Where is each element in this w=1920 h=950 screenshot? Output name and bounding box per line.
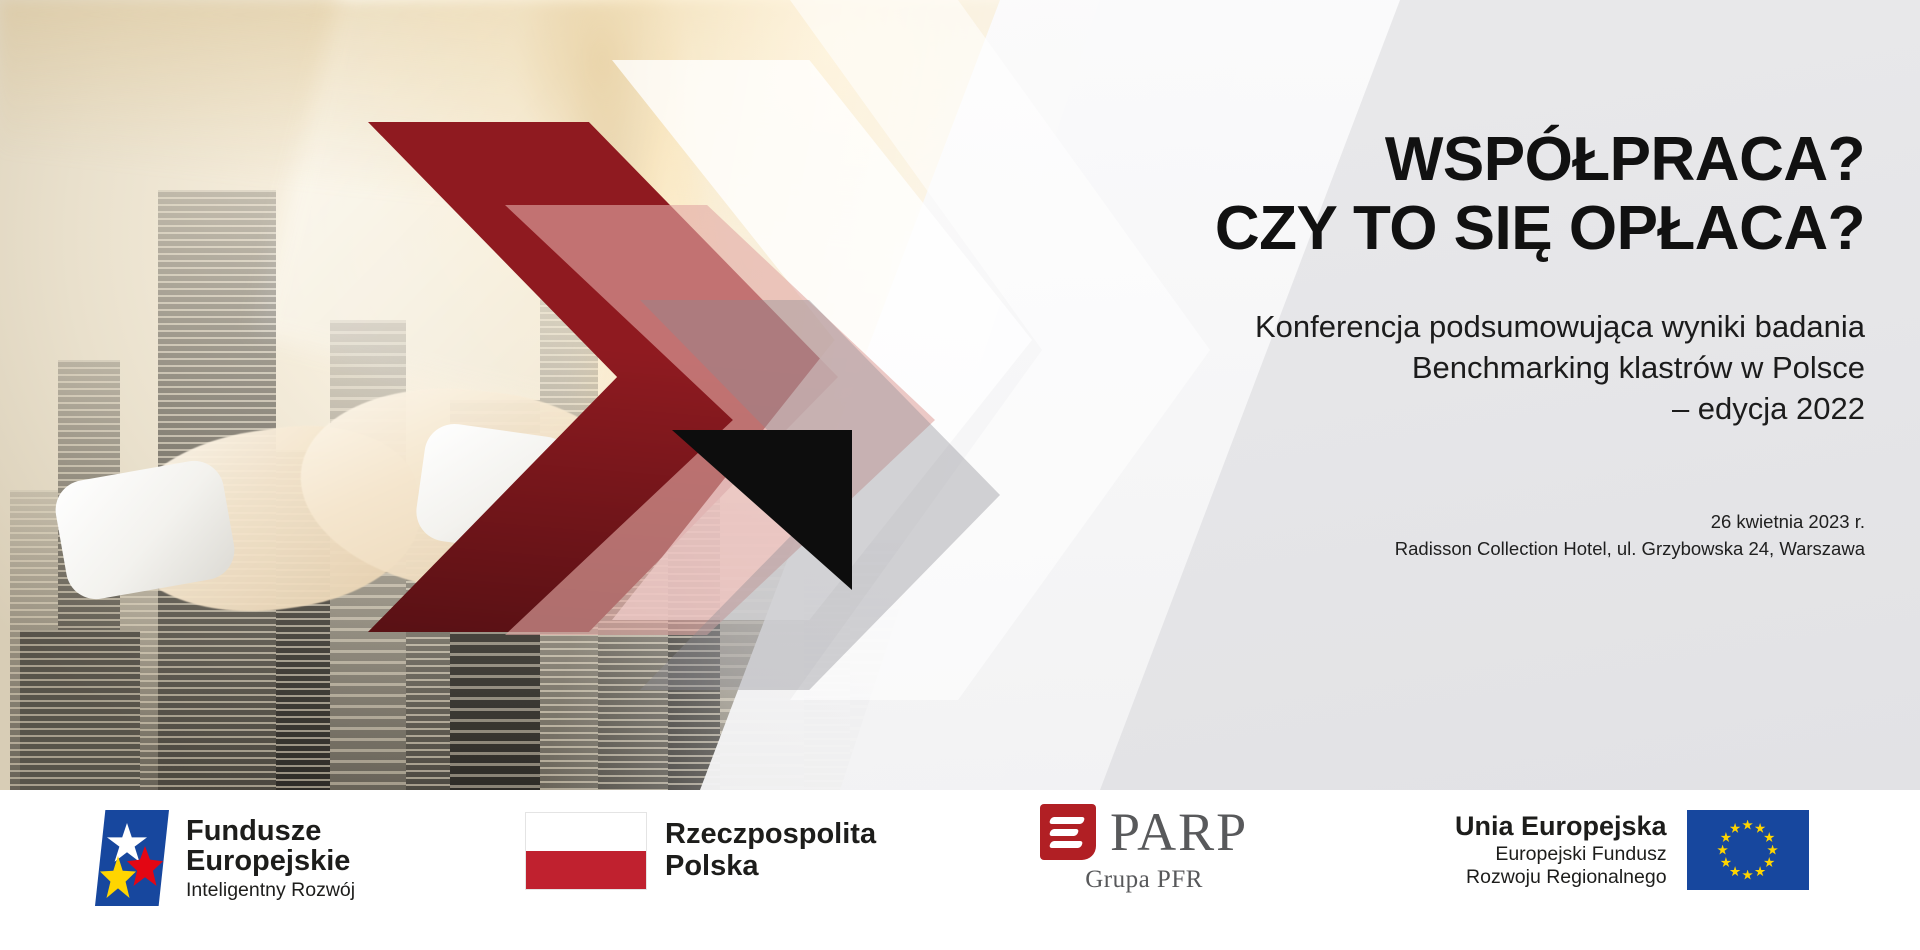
eu-star-icon [1730,866,1741,877]
fe-line-2: Europejskie [186,846,355,876]
eu-star-icon [1764,832,1775,843]
logo-bar: Fundusze Europejskie Inteligentny Rozwój… [0,790,1920,950]
eu-star-icon [1742,870,1753,881]
event-details: 26 kwietnia 2023 r. Radisson Collection … [1025,508,1865,564]
rzeczpospolita-label: Rzeczpospolita Polska [665,819,876,883]
eu-star-icon [1720,832,1731,843]
page-title: WSPÓŁPRACA? CZY TO SIĘ OPŁACA? [1025,125,1865,264]
poland-flag-icon [525,812,647,890]
rp-line-2: Polska [665,851,876,883]
fundusze-europejskie-icon [95,810,169,906]
eu-star-icon [1720,857,1731,868]
parp-icon [1040,804,1096,860]
conference-banner: WSPÓŁPRACA? CZY TO SIĘ OPŁACA? Konferenc… [0,0,1920,950]
headline-line-1: WSPÓŁPRACA? [1025,125,1865,194]
headline-line-2: CZY TO SIĘ OPŁACA? [1025,194,1865,263]
fe-line-1: Fundusze [186,816,355,846]
event-date: 26 kwietnia 2023 r. [1025,508,1865,536]
eu-star-icon [1717,845,1728,856]
ue-line-2: Europejski Fundusz [1455,843,1667,866]
logo-rzeczpospolita-polska: Rzeczpospolita Polska [525,812,876,890]
subtitle-line-1: Konferencja podsumowująca wyniki badania [1025,306,1865,347]
subtitle-line-2: Benchmarking klastrów w Polsce [1025,347,1865,388]
fe-line-3: Inteligentny Rozwój [186,880,355,900]
fundusze-europejskie-label: Fundusze Europejskie Inteligentny Rozwój [186,816,355,900]
eu-star-icon [1767,845,1778,856]
eu-star-icon [1755,866,1766,877]
eu-star-icon [1730,823,1741,834]
subtitle-line-3: – edycja 2022 [1025,388,1865,429]
logo-fundusze-europejskie: Fundusze Europejskie Inteligentny Rozwój [95,810,355,906]
unia-europejska-label: Unia Europejska Europejski Fundusz Rozwo… [1455,811,1667,889]
rp-line-1: Rzeczpospolita [665,819,876,851]
eu-flag-icon [1687,810,1809,890]
logo-unia-europejska: Unia Europejska Europejski Fundusz Rozwo… [1455,810,1809,890]
subtitle: Konferencja podsumowująca wyniki badania… [1025,306,1865,430]
eu-star-icon [1764,857,1775,868]
banner-text-block: WSPÓŁPRACA? CZY TO SIĘ OPŁACA? Konferenc… [1025,125,1865,563]
parp-subtitle: Grupa PFR [1040,866,1248,894]
event-venue: Radisson Collection Hotel, ul. Grzybowsk… [1025,535,1865,563]
eu-star-icon [1742,820,1753,831]
ue-line-1: Unia Europejska [1455,811,1667,843]
eu-star-icon [1755,823,1766,834]
parp-wordmark: PARP [1110,805,1248,859]
logo-parp: PARP Grupa PFR [1040,804,1248,894]
ue-line-3: Rozwoju Regionalnego [1455,866,1667,889]
